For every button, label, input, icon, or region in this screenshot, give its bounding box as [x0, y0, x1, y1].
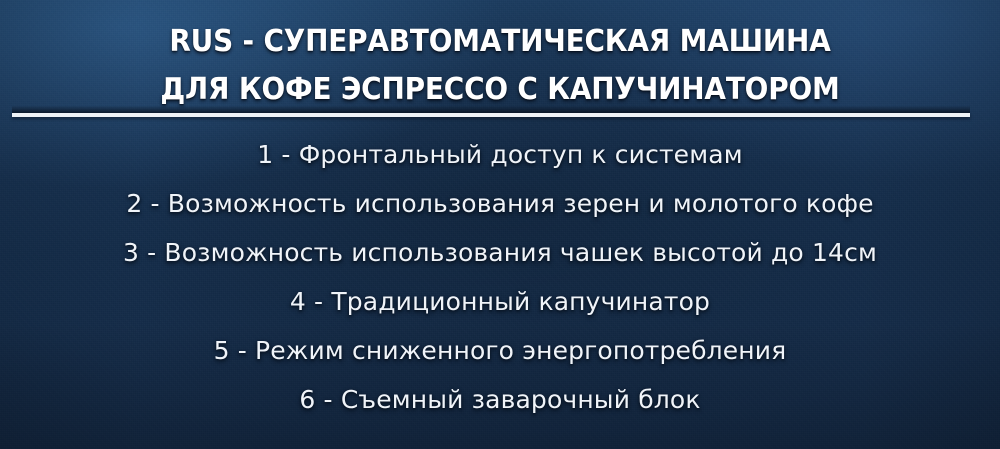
feature-list-item: 5 - Режим сниженного энергопотребления [0, 326, 1000, 375]
poster-heading: RUS - СУПЕРАВТОМАТИЧЕСКАЯ МАШИНА ДЛЯ КОФ… [0, 18, 1000, 114]
feature-list-item: 3 - Возможность использования чашек высо… [0, 228, 1000, 277]
feature-list-item: 1 - Фронтальный доступ к системам [0, 130, 1000, 179]
feature-list-item: 2 - Возможность использования зерен и мо… [0, 179, 1000, 228]
divider-shadow [12, 106, 970, 113]
product-feature-poster: RUS - СУПЕРАВТОМАТИЧЕСКАЯ МАШИНА ДЛЯ КОФ… [0, 0, 1000, 449]
heading-line-1: RUS - СУПЕРАВТОМАТИЧЕСКАЯ МАШИНА [35, 18, 965, 66]
feature-list-item: 6 - Съемный заварочный блок [0, 375, 1000, 424]
feature-list: 1 - Фронтальный доступ к системам 2 - Во… [0, 130, 1000, 424]
feature-list-item: 4 - Традиционный капучинатор [0, 277, 1000, 326]
divider-rule [12, 113, 970, 117]
heading-divider [12, 106, 970, 118]
